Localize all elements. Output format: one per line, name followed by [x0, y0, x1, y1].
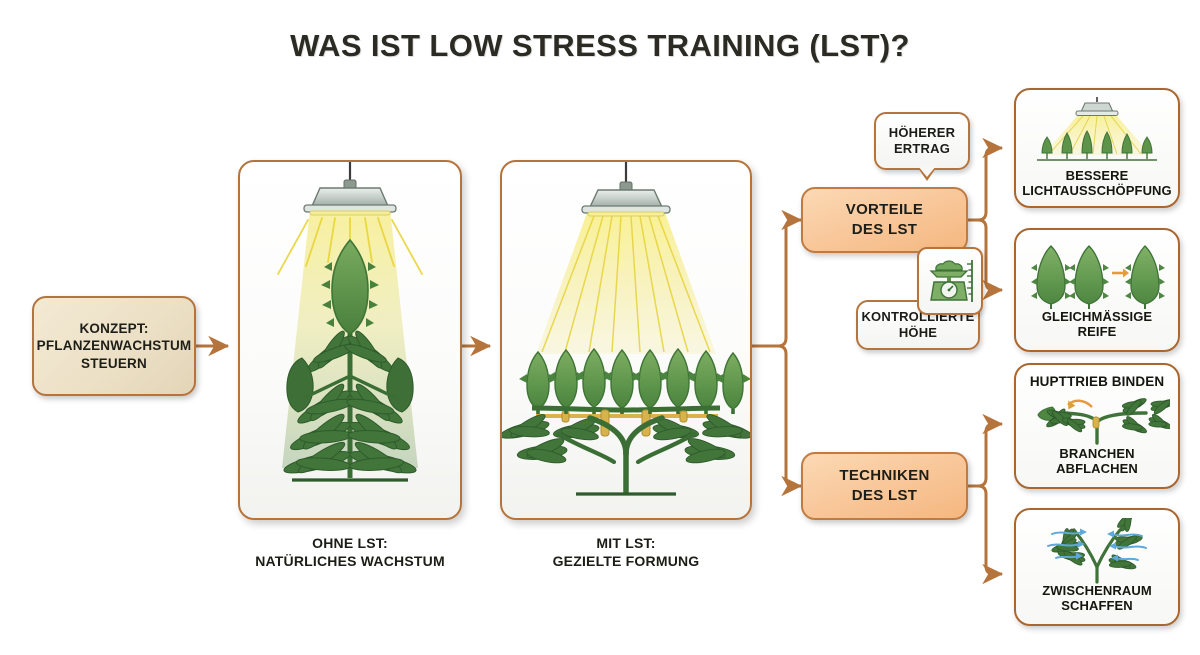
- bubble-tail-inner: [918, 166, 936, 177]
- orange-arrow-icon: [1112, 269, 1129, 278]
- plant-without-lst-illustration: [240, 162, 460, 518]
- panel-without-lst[interactable]: [238, 160, 462, 520]
- tie-clip-icon: [1093, 417, 1099, 428]
- bubble-higher-yield-line-1: HÖHERER: [889, 125, 955, 141]
- panel-without-lst-caption: OHNE LST: NATÜRLICHES WACHSTUM: [238, 534, 462, 570]
- card-label-line-1: ZWISCHENRAUM: [1042, 584, 1152, 599]
- card-better-light-usage[interactable]: BESSERE LICHTAUSSCHÖPFUNG: [1014, 88, 1180, 208]
- panel-with-lst-caption: MIT LST: GEZIELTE FORMUNG: [500, 534, 752, 570]
- kitchen-scale-with-ruler-icon: [917, 247, 983, 315]
- card-label-line-2: LICHTAUSSCHÖPFUNG: [1022, 184, 1172, 199]
- card-label-line-1: GLEICHMÄSSIGE: [1042, 310, 1152, 325]
- card-label-line-2: ABFLACHEN: [1056, 462, 1138, 477]
- card-tie-main-shoot[interactable]: HUPTTRIEB BINDEN: [1014, 363, 1180, 489]
- branch-benefits-label-2: DES LST: [846, 220, 923, 240]
- caption-line-2: GEZIELTE FORMUNG: [500, 552, 752, 570]
- card-label-line-2: REIFE: [1042, 325, 1152, 340]
- branch-benefits-label-1: VORTEILE: [846, 200, 923, 220]
- bubble-higher-yield[interactable]: HÖHERER ERTRAG: [874, 112, 970, 170]
- card-tie-main-shoot-label-below: BRANCHEN ABFLACHEN: [1053, 447, 1141, 477]
- card-label-line-2: SCHAFFEN: [1042, 599, 1152, 614]
- better-light-usage-art: [1023, 97, 1171, 169]
- concept-line-3: STEUERN: [37, 355, 192, 373]
- card-even-ripening[interactable]: GLEICHMÄSSIGE REIFE: [1014, 228, 1180, 352]
- even-ripening-art: [1027, 240, 1167, 310]
- card-create-space[interactable]: ZWISCHENRAUM SCHAFFEN: [1014, 508, 1180, 626]
- concept-line-1: KONZEPT:: [37, 320, 192, 338]
- card-label-line-1: BESSERE: [1022, 169, 1172, 184]
- concept-line-2: PFLANZENWACHSTUM: [37, 337, 192, 355]
- card-even-ripening-label: GLEICHMÄSSIGE REIFE: [1039, 310, 1155, 340]
- bubble-higher-yield-line-2: ERTRAG: [889, 141, 955, 157]
- infographic-canvas: WAS IST LOW STRESS TRAINING (LST)?: [0, 0, 1200, 655]
- create-space-art: [1026, 518, 1168, 584]
- card-create-space-label: ZWISCHENRAUM SCHAFFEN: [1039, 584, 1155, 614]
- branch-benefits-box[interactable]: VORTEILE DES LST: [801, 187, 968, 253]
- card-tie-main-shoot-label-above: HUPTTRIEB BINDEN: [1027, 374, 1167, 390]
- bubble-controlled-height-line-2: HÖHE: [861, 325, 974, 341]
- tie-main-shoot-art: [1024, 391, 1170, 445]
- card-label-line-1: BRANCHEN: [1056, 447, 1138, 462]
- branch-techniques-box[interactable]: TECHNIKEN DES LST: [801, 452, 968, 520]
- caption-line-2: NATÜRLICHES WACHSTUM: [238, 552, 462, 570]
- card-better-light-usage-label: BESSERE LICHTAUSSCHÖPFUNG: [1019, 169, 1175, 199]
- plant-with-lst-illustration: [502, 162, 750, 518]
- branch-techniques-label-1: TECHNIKEN: [839, 466, 929, 486]
- concept-box[interactable]: KONZEPT: PFLANZENWACHSTUM STEUERN: [32, 296, 196, 396]
- caption-line-1: OHNE LST:: [238, 534, 462, 552]
- scale-icon-art: [921, 252, 979, 310]
- page-title: WAS IST LOW STRESS TRAINING (LST)?: [0, 28, 1200, 64]
- branch-techniques-label-2: DES LST: [839, 486, 929, 506]
- caption-line-1: MIT LST:: [500, 534, 752, 552]
- panel-with-lst[interactable]: [500, 160, 752, 520]
